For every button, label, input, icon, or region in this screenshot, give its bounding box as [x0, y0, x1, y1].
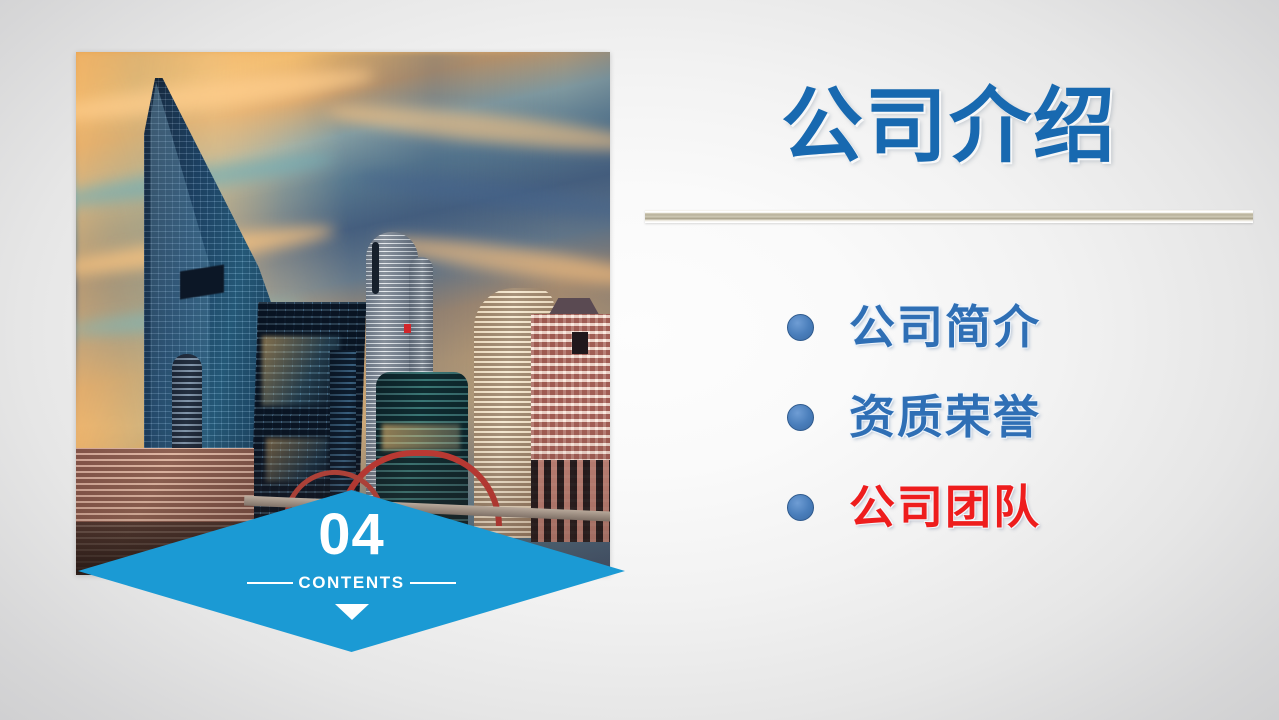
agenda-list: 公司简介 资质荣誉 公司团队: [645, 282, 1253, 552]
agenda-item-company-team[interactable]: 公司团队: [645, 462, 1253, 552]
page-title: 公司介绍: [645, 84, 1253, 170]
building-window-slit: [372, 242, 379, 294]
agenda-item-company-profile[interactable]: 公司简介: [645, 282, 1253, 372]
presentation-slide: 04 CONTENTS 公司介绍 公司简介 资质荣誉 公司团队: [0, 0, 1279, 720]
agenda-item-label: 资质荣誉: [849, 394, 1041, 440]
agenda-item-qualifications-honors[interactable]: 资质荣誉: [645, 372, 1253, 462]
agenda-item-label: 公司简介: [849, 304, 1041, 350]
building-red-sign: [404, 324, 411, 333]
bullet-dot-icon: [787, 494, 814, 521]
agenda-item-label: 公司团队: [849, 484, 1041, 530]
title-divider: [645, 210, 1253, 223]
bullet-dot-icon: [787, 314, 814, 341]
glass-reflection: [262, 336, 340, 406]
bullet-dot-icon: [787, 404, 814, 431]
building-window-recess: [572, 332, 588, 354]
